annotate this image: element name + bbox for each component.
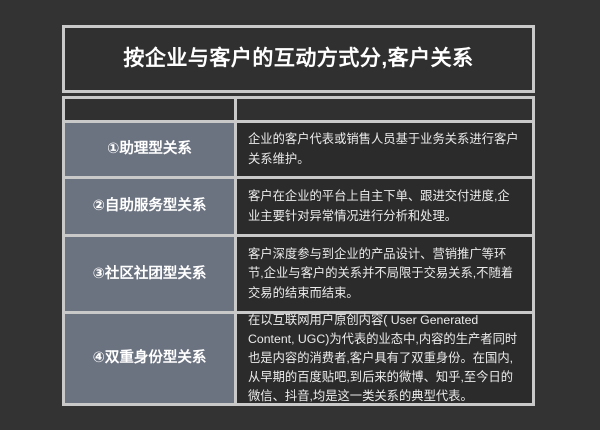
row-2-label-text: ②自助服务型关系 xyxy=(93,197,207,215)
row-4-label-text: ④双重身份型关系 xyxy=(93,349,207,367)
row-4-body-cell: 在以互联网用户原创内容( User Generated Content, UGC… xyxy=(237,314,535,406)
relationship-types-table: ①助理型关系 企业的客户代表或销售人员基于业务关系进行客户关系维护。 ②自助服务… xyxy=(62,96,535,406)
row-4-label-cell: ④双重身份型关系 xyxy=(62,314,237,406)
row-3-body-text: 客户深度参与到企业的产品设计、营销推广等环节,企业与客户的关系并不局限于交易关系… xyxy=(248,245,521,302)
row-2-label-cell: ②自助服务型关系 xyxy=(62,179,237,237)
slide-title-block: 按企业与客户的互动方式分,客户关系 xyxy=(62,25,535,93)
row-3-label-text: ③社区社团型关系 xyxy=(93,265,207,283)
header-cell-body-column xyxy=(237,96,535,123)
header-cell-label-column xyxy=(62,96,237,123)
row-1-body-text: 企业的客户代表或销售人员基于业务关系进行客户关系维护。 xyxy=(248,130,521,168)
row-1-label-text: ①助理型关系 xyxy=(107,140,192,158)
table-row: ④双重身份型关系 在以互联网用户原创内容( User Generated Con… xyxy=(62,314,535,406)
table-row: ①助理型关系 企业的客户代表或销售人员基于业务关系进行客户关系维护。 xyxy=(62,123,535,179)
table-row: ③社区社团型关系 客户深度参与到企业的产品设计、营销推广等环节,企业与客户的关系… xyxy=(62,237,535,314)
table-header-row xyxy=(62,96,535,123)
page-title: 按企业与客户的互动方式分,客户关系 xyxy=(123,46,473,71)
row-2-body-cell: 客户在企业的平台上自主下单、跟进交付进度,企业主要针对异常情况进行分析和处理。 xyxy=(237,179,535,237)
row-4-body-text: 在以互联网用户原创内容( User Generated Content, UGC… xyxy=(248,311,521,406)
slide-canvas: 按企业与客户的互动方式分,客户关系 ①助理型关系 企业的客户代表或销售人员基于业… xyxy=(0,0,600,430)
row-3-label-cell: ③社区社团型关系 xyxy=(62,237,237,314)
row-2-body-text: 客户在企业的平台上自主下单、跟进交付进度,企业主要针对异常情况进行分析和处理。 xyxy=(248,187,521,225)
row-3-body-cell: 客户深度参与到企业的产品设计、营销推广等环节,企业与客户的关系并不局限于交易关系… xyxy=(237,237,535,314)
row-1-body-cell: 企业的客户代表或销售人员基于业务关系进行客户关系维护。 xyxy=(237,123,535,179)
table-row: ②自助服务型关系 客户在企业的平台上自主下单、跟进交付进度,企业主要针对异常情况… xyxy=(62,179,535,237)
row-1-label-cell: ①助理型关系 xyxy=(62,123,237,179)
